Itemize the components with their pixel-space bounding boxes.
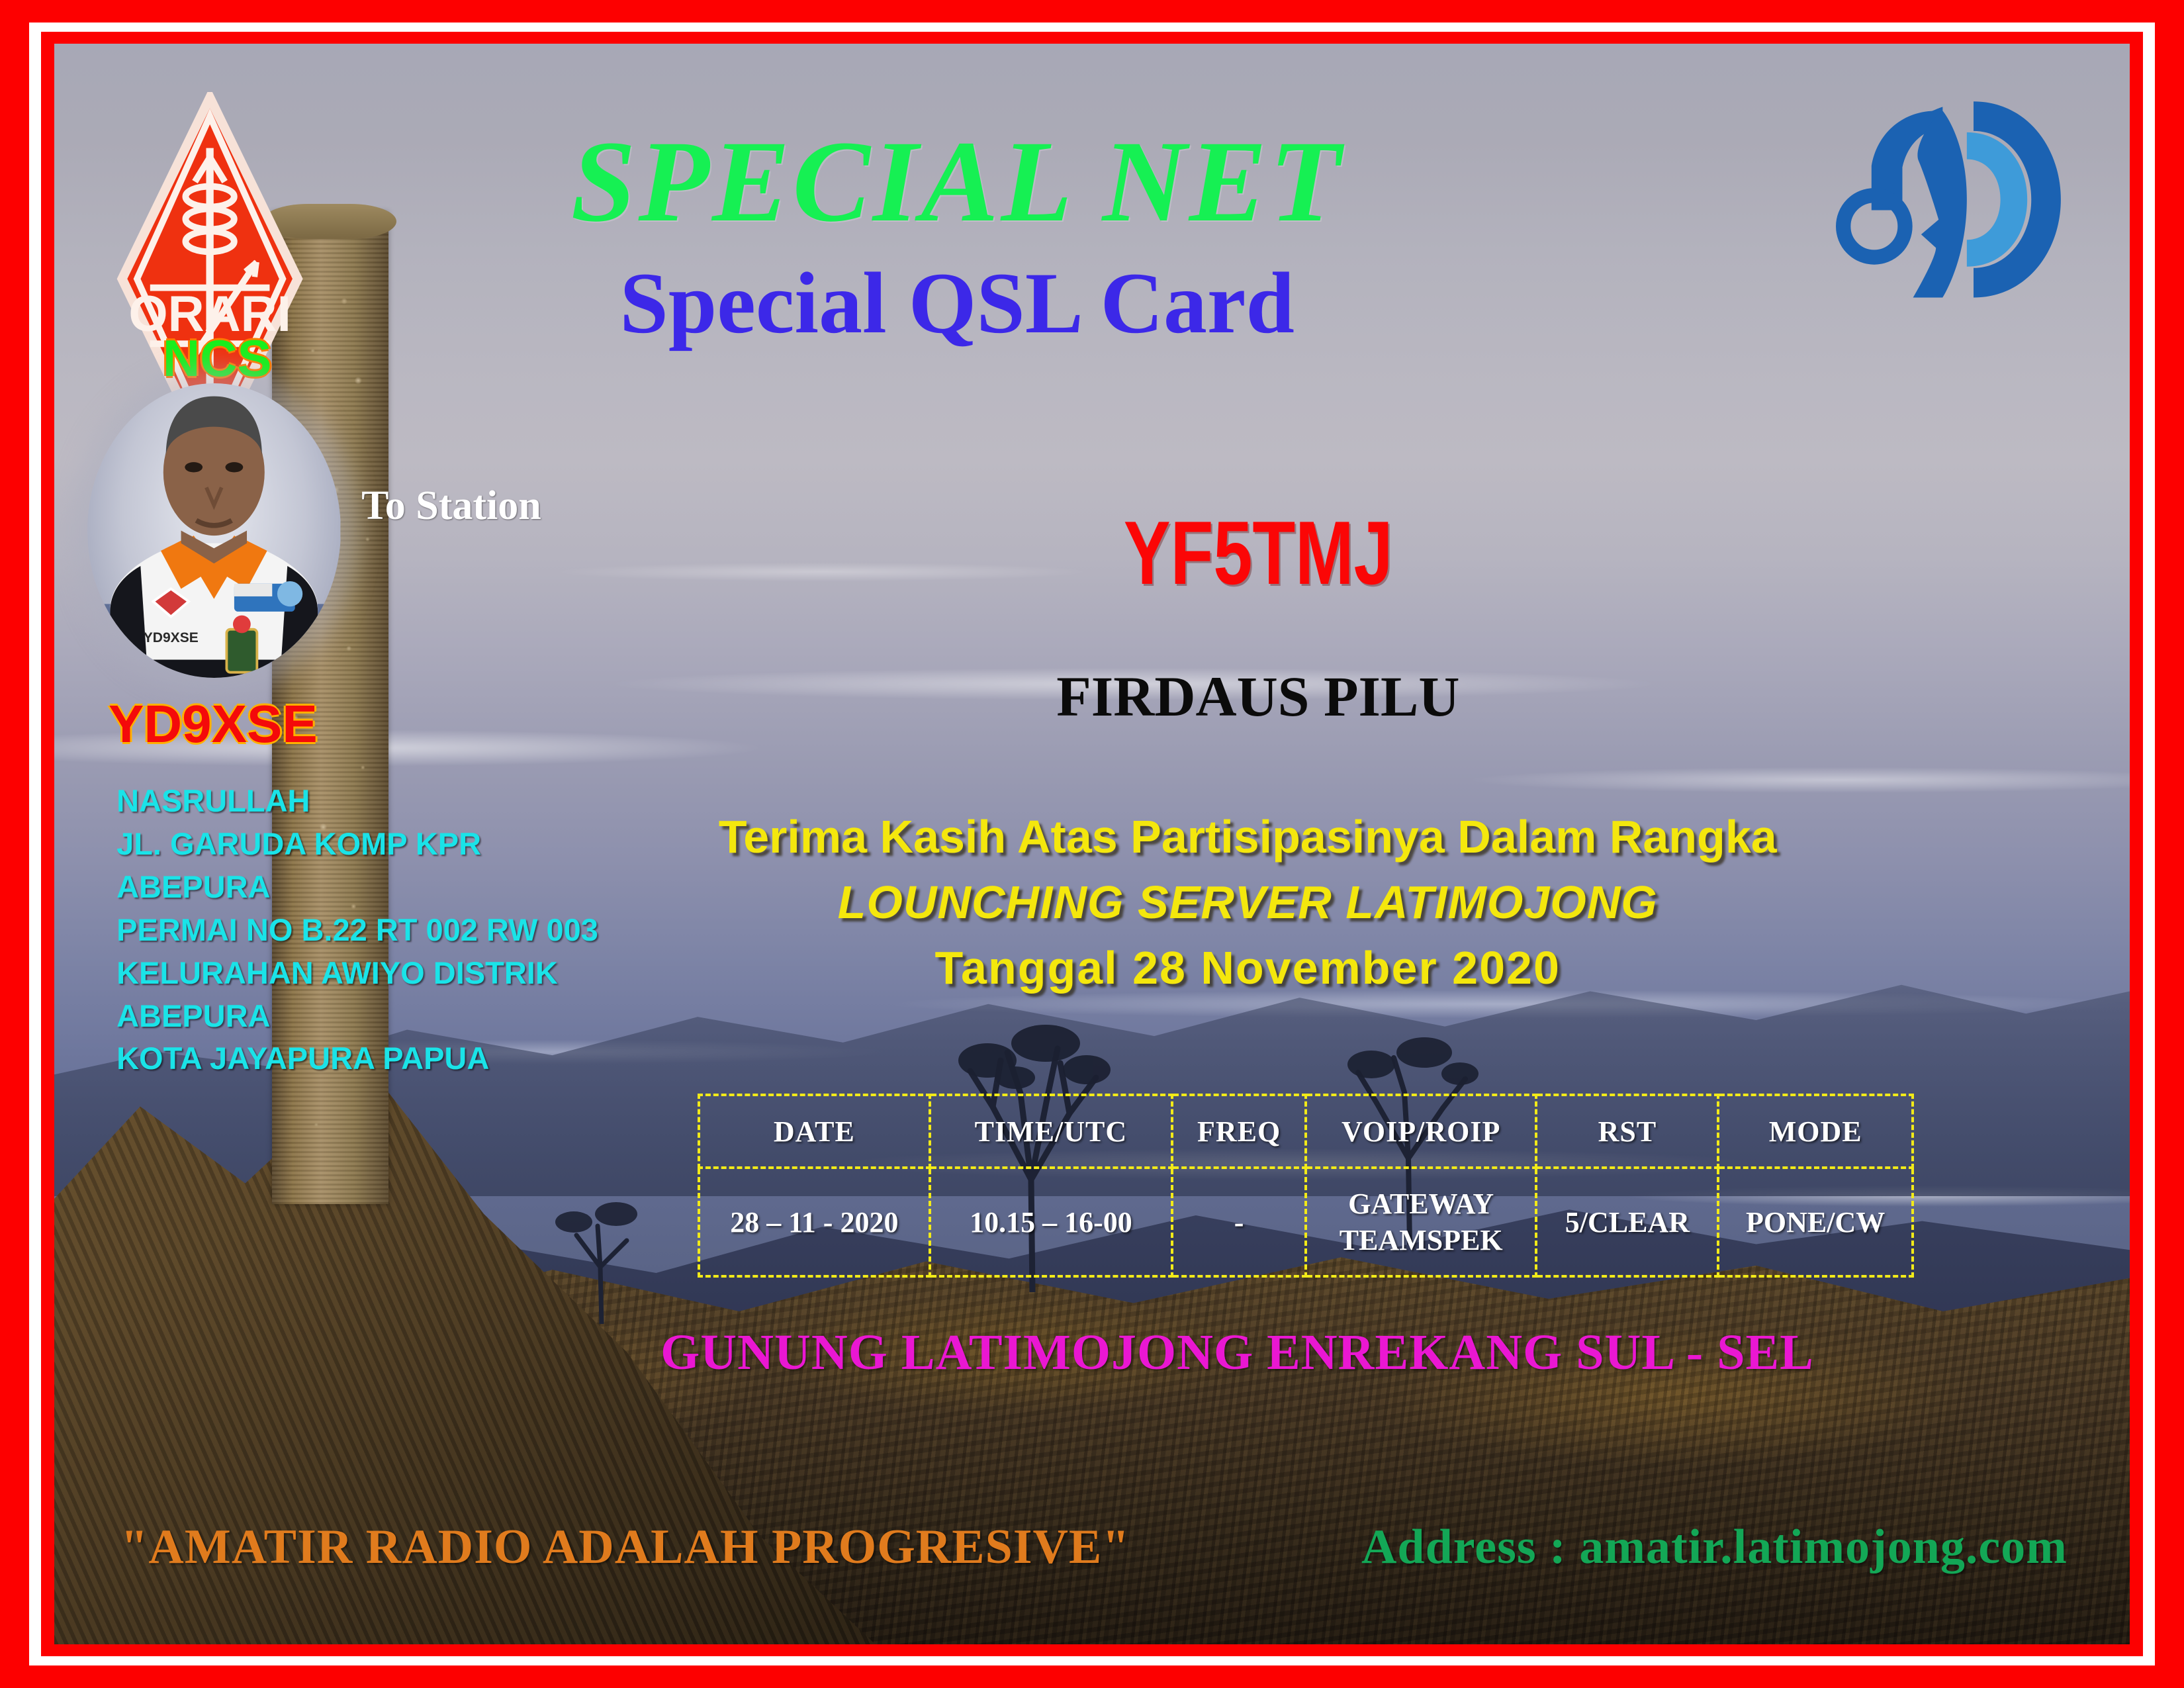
thanks-message: Terima Kasih Atas Partisipasinya Dalam R… — [708, 804, 1788, 1002]
page-subtitle: Special QSL Card — [262, 259, 1653, 347]
cell-voip-line-1: GATEWAY — [1308, 1186, 1534, 1222]
motto-text: "AMATIR RADIO ADALAH PROGRESIVE" — [120, 1519, 1130, 1575]
table-row: 28 – 11 - 2020 10.15 – 16-00 - GATEWAY T… — [699, 1168, 1913, 1276]
web-address[interactable]: Address : amatir.latimojong.com — [1361, 1519, 2068, 1575]
cell-voip: GATEWAY TEAMSPEK — [1306, 1168, 1536, 1276]
thanks-line-3: Tanggal 28 November 2020 — [708, 935, 1788, 1001]
ncs-label: NCS — [118, 328, 316, 389]
station-callsign: YF5TMJ — [934, 508, 1582, 598]
table-header-date: DATE — [699, 1095, 929, 1168]
address-line: ABEPURA — [116, 866, 739, 909]
ncs-operator-avatar: YD9XSE — [87, 383, 341, 678]
cell-rst: 5/CLEAR — [1536, 1168, 1718, 1276]
thanks-line-2: LOUNCHING SERVER LATIMOJONG — [708, 870, 1788, 935]
mailing-address: NASRULLAH JL. GARUDA KOMP KPR ABEPURA PE… — [116, 780, 739, 1080]
address-line: KOTA JAYAPURA PAPUA — [116, 1037, 739, 1080]
svg-text:YD9XSE: YD9XSE — [144, 630, 199, 645]
page-title: SPECIAL NET — [262, 124, 1653, 240]
operator-name: FIRDAUS PILU — [843, 668, 1673, 725]
table-header-rst: RST — [1536, 1095, 1718, 1168]
address-line: JL. GARUDA KOMP KPR — [116, 823, 739, 866]
card-background-photo: ORARI SPEC — [54, 44, 2130, 1644]
cell-time: 10.15 – 16-00 — [930, 1168, 1173, 1276]
table-header-freq: FREQ — [1172, 1095, 1306, 1168]
cell-date: 28 – 11 - 2020 — [699, 1168, 929, 1276]
address-line: NASRULLAH — [116, 780, 739, 823]
table-header-voip: VOIP/ROIP — [1306, 1095, 1536, 1168]
address-line: ABEPURA — [116, 995, 739, 1038]
address-line: KELURAHAN AWIYO DISTRIK — [116, 952, 739, 995]
table-header-row: DATE TIME/UTC FREQ VOIP/ROIP RST MODE — [699, 1095, 1913, 1168]
ncs-callsign: YD9XSE — [83, 694, 343, 755]
address-line: PERMAI NO B.22 RT 002 RW 003 — [116, 909, 739, 952]
table-header-mode: MODE — [1718, 1095, 1912, 1168]
headphones-soundwave-logo — [1835, 92, 2064, 310]
location-caption: GUNUNG LATIMOJONG ENREKANG SUL - SEL — [594, 1324, 1880, 1382]
cell-voip-line-2: TEAMSPEK — [1308, 1222, 1534, 1258]
thanks-line-1: Terima Kasih Atas Partisipasinya Dalam R… — [708, 804, 1788, 870]
table-header-time: TIME/UTC — [930, 1095, 1173, 1168]
to-station-label: To Station — [361, 483, 541, 530]
qso-log-table: DATE TIME/UTC FREQ VOIP/ROIP RST MODE 28… — [698, 1094, 1914, 1278]
cell-mode: PONE/CW — [1718, 1168, 1912, 1276]
qsl-card: ORARI SPEC — [0, 0, 2184, 1688]
cell-freq: - — [1172, 1168, 1306, 1276]
